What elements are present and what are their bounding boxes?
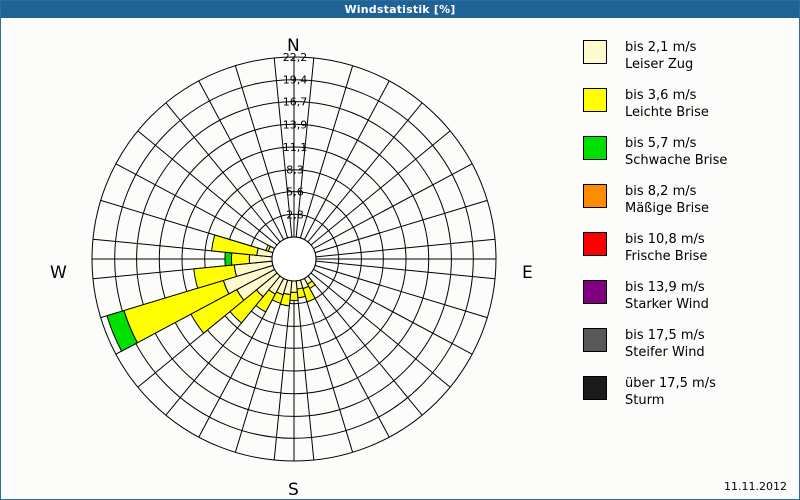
legend-beaufort-name: Leiser Zug (625, 56, 696, 73)
wind-rose-segment (225, 252, 232, 266)
legend-item: bis 2,1 m/sLeiser Zug (583, 39, 793, 80)
legend-item: bis 17,5 m/sSteifer Wind (583, 327, 793, 368)
radial-tick-label: 13,9 (283, 118, 308, 131)
legend-item: bis 8,2 m/sMäßige Brise (583, 183, 793, 224)
legend-label: bis 10,8 m/sFrische Brise (625, 231, 707, 265)
radial-tick-label: 2,8 (286, 208, 304, 221)
legend-label: bis 5,7 m/sSchwache Brise (625, 135, 727, 169)
compass-label-south: S (288, 480, 299, 500)
legend-color-swatch (583, 184, 607, 208)
grid-spoke (235, 66, 287, 238)
legend-speed-range: bis 8,2 m/s (625, 183, 709, 200)
legend-speed-range: bis 2,1 m/s (625, 39, 696, 56)
center-hole (272, 237, 316, 281)
legend-item: über 17,5 m/sSturm (583, 375, 793, 416)
legend-label: bis 8,2 m/sMäßige Brise (625, 183, 709, 217)
legend-speed-range: bis 5,7 m/s (625, 135, 727, 152)
window-title-bar: Windstatistik [%] (1, 1, 799, 18)
radial-tick-label: 11,1 (283, 141, 308, 154)
wind-speed-legend: bis 2,1 m/sLeiser Zugbis 3,6 m/sLeichte … (583, 39, 793, 423)
radial-tick-label: 5,6 (286, 186, 304, 199)
radial-tick-label: 16,7 (283, 96, 308, 109)
legend-item: bis 10,8 m/sFrische Brise (583, 231, 793, 272)
legend-beaufort-name: Starker Wind (625, 296, 709, 313)
radial-tick-label: 19,4 (283, 74, 308, 87)
legend-color-swatch (583, 136, 607, 160)
grid-spoke (300, 66, 352, 238)
legend-speed-range: über 17,5 m/s (625, 375, 716, 392)
compass-label-north: N (287, 36, 300, 56)
legend-label: bis 13,9 m/sStarker Wind (625, 279, 709, 313)
center-hub (272, 237, 316, 281)
radial-tick-label: 8,3 (286, 164, 304, 177)
wind-rose-plot-area: 2,85,68,311,113,916,719,422,2 N S W E (1, 18, 566, 483)
legend-item: bis 3,6 m/sLeichte Brise (583, 87, 793, 128)
legend-beaufort-name: Steifer Wind (625, 344, 705, 361)
legend-color-swatch (583, 88, 607, 112)
legend-color-swatch (583, 328, 607, 352)
legend-beaufort-name: Sturm (625, 392, 716, 409)
legend-speed-range: bis 3,6 m/s (625, 87, 709, 104)
legend-beaufort-name: Leichte Brise (625, 104, 709, 121)
legend-color-swatch (583, 232, 607, 256)
legend-beaufort-name: Schwache Brise (625, 152, 727, 169)
legend-label: über 17,5 m/sSturm (625, 375, 716, 409)
grid-spoke (300, 280, 352, 452)
grid-spoke (315, 200, 487, 252)
window-title: Windstatistik [%] (344, 3, 455, 16)
legend-color-swatch (583, 376, 607, 400)
legend-speed-range: bis 10,8 m/s (625, 231, 707, 248)
grid-spoke (315, 265, 487, 317)
legend-item: bis 5,7 m/sSchwache Brise (583, 135, 793, 176)
windstatistik-window: Windstatistik [%] 2,85,68,311,113,916,71… (0, 0, 800, 500)
legend-label: bis 17,5 m/sSteifer Wind (625, 327, 705, 361)
compass-label-east: E (522, 263, 533, 283)
legend-color-swatch (583, 40, 607, 64)
legend-color-swatch (583, 280, 607, 304)
legend-label: bis 3,6 m/sLeichte Brise (625, 87, 709, 121)
legend-speed-range: bis 13,9 m/s (625, 279, 709, 296)
wind-rose-chart: 2,85,68,311,113,916,719,422,2 (1, 18, 566, 483)
legend-beaufort-name: Mäßige Brise (625, 200, 709, 217)
legend-speed-range: bis 17,5 m/s (625, 327, 705, 344)
compass-label-west: W (50, 263, 67, 283)
wind-rose-segment (290, 292, 298, 300)
date-stamp: 11.11.2012 (724, 480, 787, 493)
legend-label: bis 2,1 m/sLeiser Zug (625, 39, 696, 73)
legend-beaufort-name: Frische Brise (625, 248, 707, 265)
legend-item: bis 13,9 m/sStarker Wind (583, 279, 793, 320)
radial-tick-labels: 2,85,68,311,113,916,719,422,2 (283, 51, 308, 221)
